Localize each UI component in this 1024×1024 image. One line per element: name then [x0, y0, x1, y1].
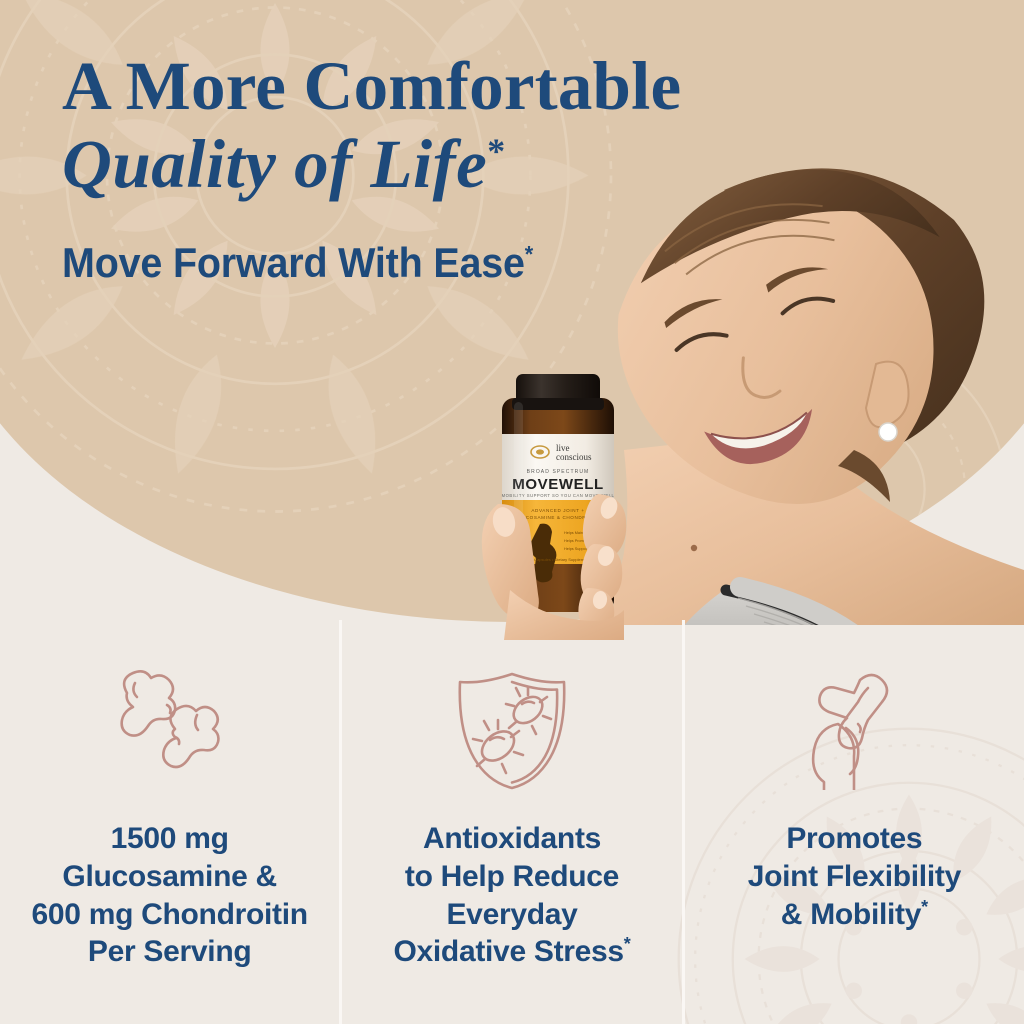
- page-title: A More Comfortable Quality of Life*: [62, 52, 842, 199]
- feature-card-text: Promotes Joint Flexibility & Mobility*: [748, 820, 961, 933]
- feature-card-antioxidants: Antioxidants to Help Reduce Everyday Oxi…: [339, 620, 681, 1024]
- feature-card-text: Antioxidants to Help Reduce Everyday Oxi…: [393, 820, 630, 971]
- feature-card-flexibility: Promotes Joint Flexibility & Mobility*: [682, 620, 1024, 1024]
- feature-card-glucosamine: 1500 mg Glucosamine & 600 mg Chondroitin…: [0, 620, 339, 1024]
- feature-cards: 1500 mg Glucosamine & 600 mg Chondroitin…: [0, 620, 1024, 1024]
- shield-antioxidant-icon: [452, 662, 572, 794]
- headline-asterisk: *: [487, 131, 505, 171]
- headline-line-1: A More Comfortable: [62, 48, 681, 124]
- hip-joint-icon: [798, 662, 910, 794]
- headline-line-2: Quality of Life*: [62, 130, 842, 198]
- subheadline: Move Forward With Ease*: [62, 239, 795, 287]
- subheadline-asterisk: *: [525, 241, 533, 267]
- svg-text:conscious: conscious: [556, 452, 592, 462]
- feature-card-text: 1500 mg Glucosamine & 600 mg Chondroitin…: [32, 820, 308, 971]
- hand-holding-bottle: [452, 470, 652, 640]
- bones-icon: [105, 662, 235, 794]
- hero-copy: A More Comfortable Quality of Life* Move…: [62, 52, 842, 287]
- product-banner: live conscious BROAD SPECTRUM MOVEWELL M…: [0, 0, 1024, 1024]
